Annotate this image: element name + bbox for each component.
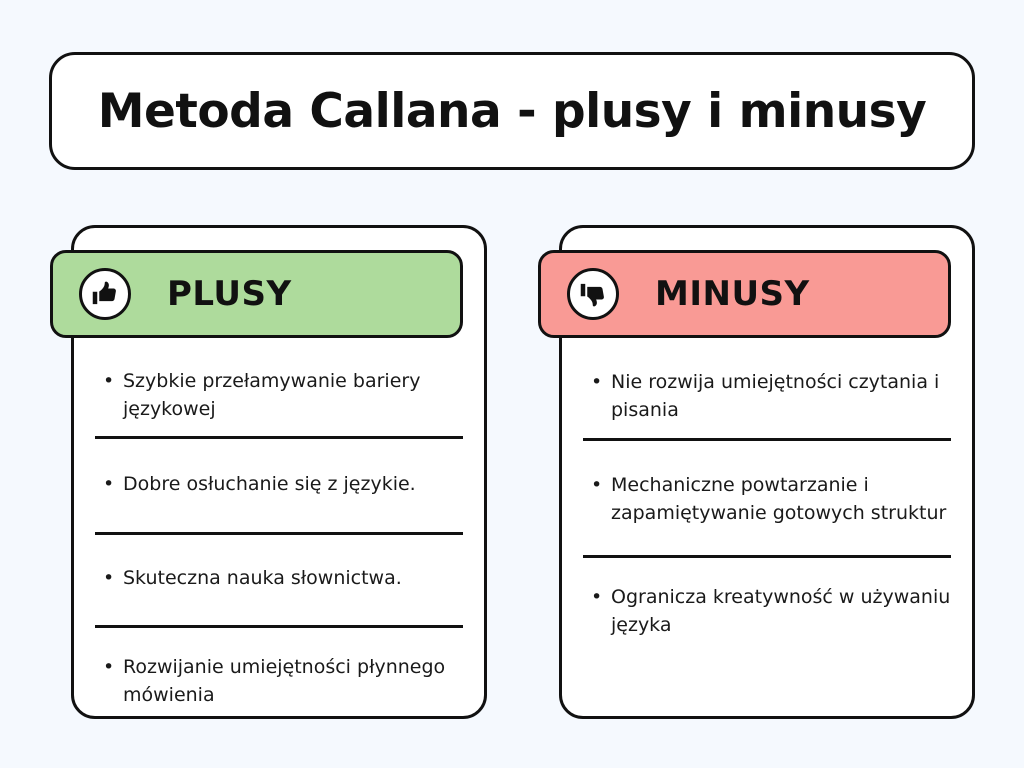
- page-title-box: Metoda Callana - plusy i minusy: [49, 52, 975, 170]
- list-item: Dobre osłuchanie się z językie.: [95, 471, 463, 499]
- page-title: Metoda Callana - plusy i minusy: [98, 84, 926, 139]
- list-item: Nie rozwija umiejętności czytania i pisa…: [583, 369, 951, 424]
- list-item: Szybkie przełamywanie bariery językowej: [95, 368, 463, 423]
- thumbs-up-icon: [79, 268, 131, 320]
- cons-header-label: MINUSY: [655, 274, 810, 314]
- list-item: Ogranicza kreatywność w używaniu języka: [583, 584, 951, 639]
- pros-card-body: Szybkie przełamywanie bariery językowej …: [71, 349, 487, 719]
- list-separator: [95, 436, 463, 439]
- cons-card-body: Nie rozwija umiejętności czytania i pisa…: [559, 349, 975, 719]
- list-separator: [583, 438, 951, 441]
- pros-header: PLUSY: [50, 250, 463, 338]
- cons-header: MINUSY: [538, 250, 951, 338]
- list-separator: [95, 532, 463, 535]
- list-item: Rozwijanie umiejętności płynnego mówieni…: [95, 654, 463, 709]
- pros-column: PLUSY Szybkie przełamywanie bariery języ…: [71, 225, 487, 719]
- list-item: Mechaniczne powtarzanie i zapamiętywanie…: [583, 472, 951, 527]
- list-item: Skuteczna nauka słownictwa.: [95, 565, 463, 593]
- list-separator: [95, 625, 463, 628]
- cons-list: Nie rozwija umiejętności czytania i pisa…: [583, 349, 951, 639]
- list-separator: [583, 555, 951, 558]
- thumbs-down-icon: [567, 268, 619, 320]
- pros-list: Szybkie przełamywanie bariery językowej …: [95, 349, 463, 709]
- pros-header-label: PLUSY: [167, 274, 292, 314]
- cons-column: MINUSY Nie rozwija umiejętności czytania…: [559, 225, 975, 719]
